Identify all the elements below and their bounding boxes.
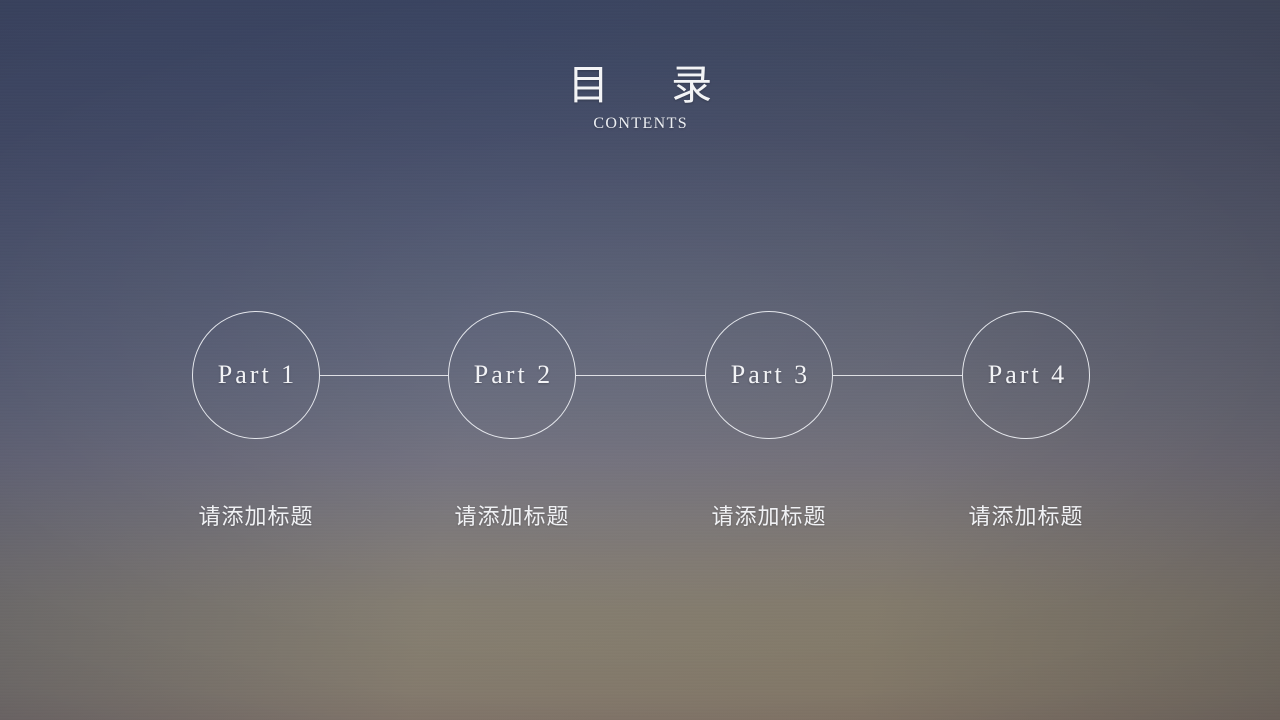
- node-part-2[interactable]: Part 2: [448, 311, 576, 439]
- contents-diagram: Part 1 Part 2 Part 3 Part 4 请添加标题 请添加标题 …: [0, 0, 1280, 720]
- connector-line-3-4: [833, 375, 962, 376]
- connector-line-2-3: [576, 375, 705, 376]
- node-label-part-3: Part 3: [705, 311, 833, 439]
- node-part-3[interactable]: Part 3: [705, 311, 833, 439]
- caption-part-2[interactable]: 请添加标题: [402, 501, 622, 533]
- caption-part-1[interactable]: 请添加标题: [146, 501, 366, 533]
- contents-slide: 目 录 CONTENTS Part 1 Part 2 Part 3 Part 4…: [0, 0, 1280, 720]
- connector-line-1-2: [320, 375, 448, 376]
- caption-part-3[interactable]: 请添加标题: [659, 501, 879, 533]
- node-part-1[interactable]: Part 1: [192, 311, 320, 439]
- node-label-part-1: Part 1: [192, 311, 320, 439]
- caption-part-4[interactable]: 请添加标题: [916, 501, 1136, 533]
- node-label-part-2: Part 2: [448, 311, 576, 439]
- node-label-part-4: Part 4: [962, 311, 1090, 439]
- node-part-4[interactable]: Part 4: [962, 311, 1090, 439]
